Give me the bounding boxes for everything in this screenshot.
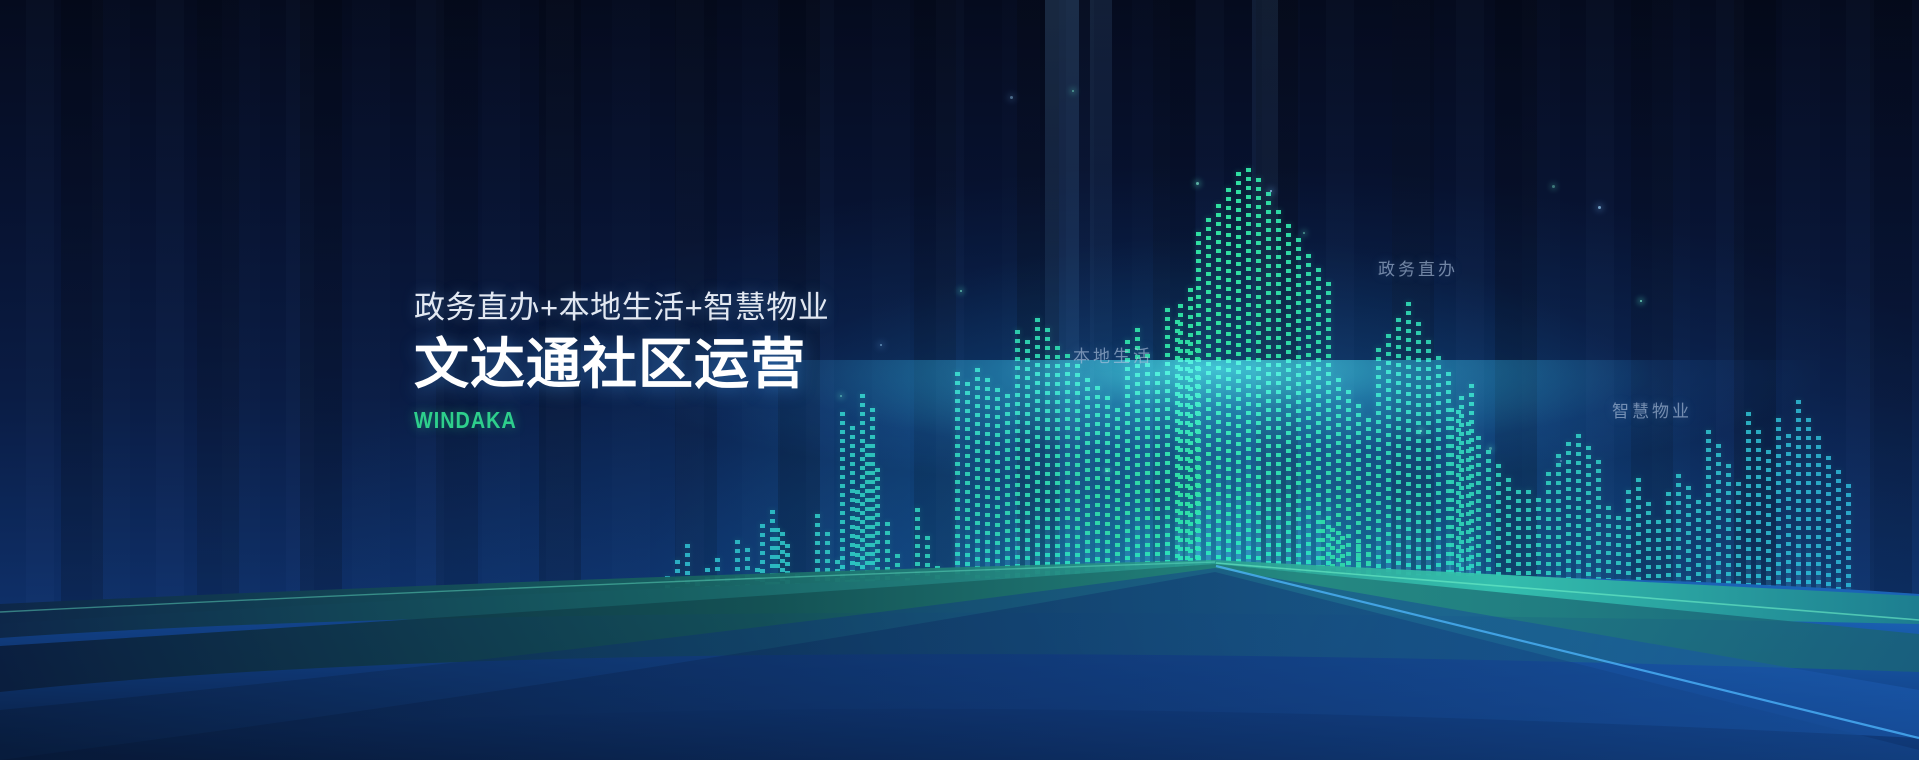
sparkle-particle [1010,96,1013,99]
sparkle-particle [1552,185,1555,188]
sparkle-particle [1420,430,1422,432]
headline-block: 政务直办+本地生活+智慧物业 文达通社区运营 WINDAKA [414,292,829,434]
city-skyline [0,0,1919,640]
sparkle-particle [1072,90,1074,92]
ground-bands-svg [0,560,1919,760]
banner-subtitle: 政务直办+本地生活+智慧物业 [414,292,829,323]
hero-banner: 政务直办 本地生活 智慧物业 政务直办+本地生活+智慧物业 文达通社区运营 WI… [0,0,1919,760]
banner-title: 文达通社区运营 [414,337,829,392]
skyline-label-local-life: 本地生活 [1073,342,1153,367]
sparkle-particle [1640,300,1642,302]
sparkle-particle [1106,470,1108,472]
sparkle-particle [1598,206,1601,209]
sparkle-particle [1489,447,1492,450]
skyline-label-government: 政务直办 [1378,255,1458,280]
sparkle-particle [1303,232,1305,234]
sparkle-particle [1196,182,1199,185]
brand-wordmark: WINDAKA [414,407,771,434]
sparkle-particle [840,395,842,397]
perspective-ground [0,560,1919,760]
sparkle-particle [880,344,882,346]
sparkle-particle [1560,460,1562,462]
sparkle-particle [960,290,962,292]
skyline-label-smart-property: 智慧物业 [1612,397,1692,422]
sparkle-particle [1270,190,1272,192]
